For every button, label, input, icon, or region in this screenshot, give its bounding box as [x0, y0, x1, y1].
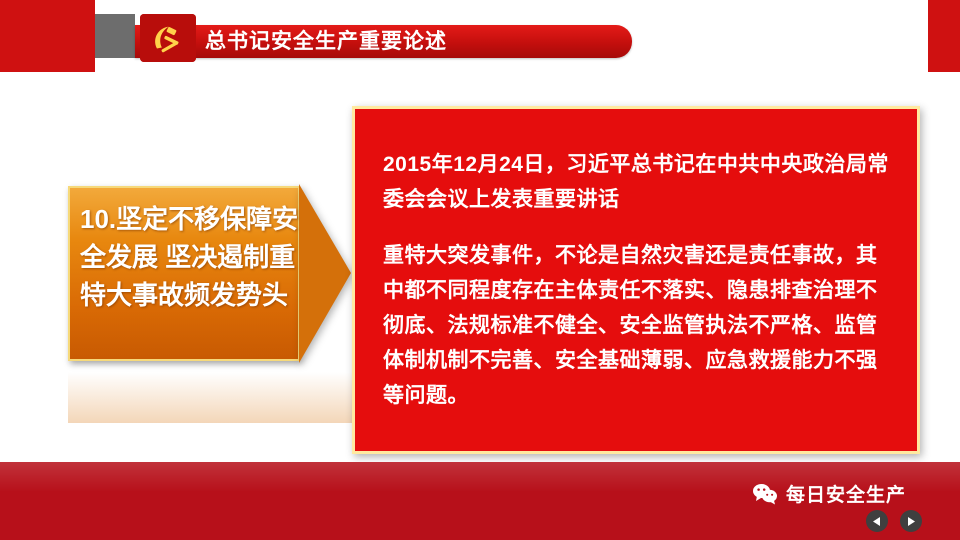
quote-panel: 2015年12月24日，习近平总书记在中共中央政治局常委会会议上发表重要讲话 重…	[352, 106, 920, 454]
header-title: 总书记安全生产重要论述	[205, 27, 625, 57]
slide-canvas: 总书记安全生产重要论述 10.坚定不移保障安全发展 坚决遏制重特大事故频发势头 …	[0, 0, 960, 540]
quote-body: 重特大突发事件，不论是自然灾害还是责任事故，其中都不同程度存在主体责任不落实、隐…	[383, 238, 891, 413]
prev-triangle-icon	[872, 516, 882, 527]
wechat-icon	[752, 483, 778, 505]
slide-nav-controls[interactable]	[866, 510, 922, 532]
next-triangle-icon	[906, 516, 916, 527]
left-callout-arrow: 10.坚定不移保障安全发展 坚决遏制重特大事故频发势头	[68, 186, 352, 361]
top-banner-left-block	[0, 0, 95, 72]
top-banner-right-block	[928, 0, 960, 72]
top-banner-gray-tab	[95, 14, 135, 58]
left-callout-text: 10.坚定不移保障安全发展 坚决遏制重特大事故频发势头	[80, 200, 316, 314]
quote-heading: 2015年12月24日，习近平总书记在中共中央政治局常委会会议上发表重要讲话	[383, 147, 891, 217]
left-callout-reflection	[68, 363, 352, 423]
next-slide-button[interactable]	[900, 510, 922, 532]
top-banner: 总书记安全生产重要论述	[0, 0, 960, 72]
wechat-account-badge: 每日安全生产	[752, 480, 906, 507]
banner-divider	[0, 72, 960, 78]
quote-content: 2015年12月24日，习近平总书记在中共中央政治局常委会会议上发表重要讲话 重…	[383, 147, 891, 413]
wechat-account-name: 每日安全生产	[786, 480, 906, 507]
party-emblem-icon	[140, 14, 196, 62]
prev-slide-button[interactable]	[866, 510, 888, 532]
